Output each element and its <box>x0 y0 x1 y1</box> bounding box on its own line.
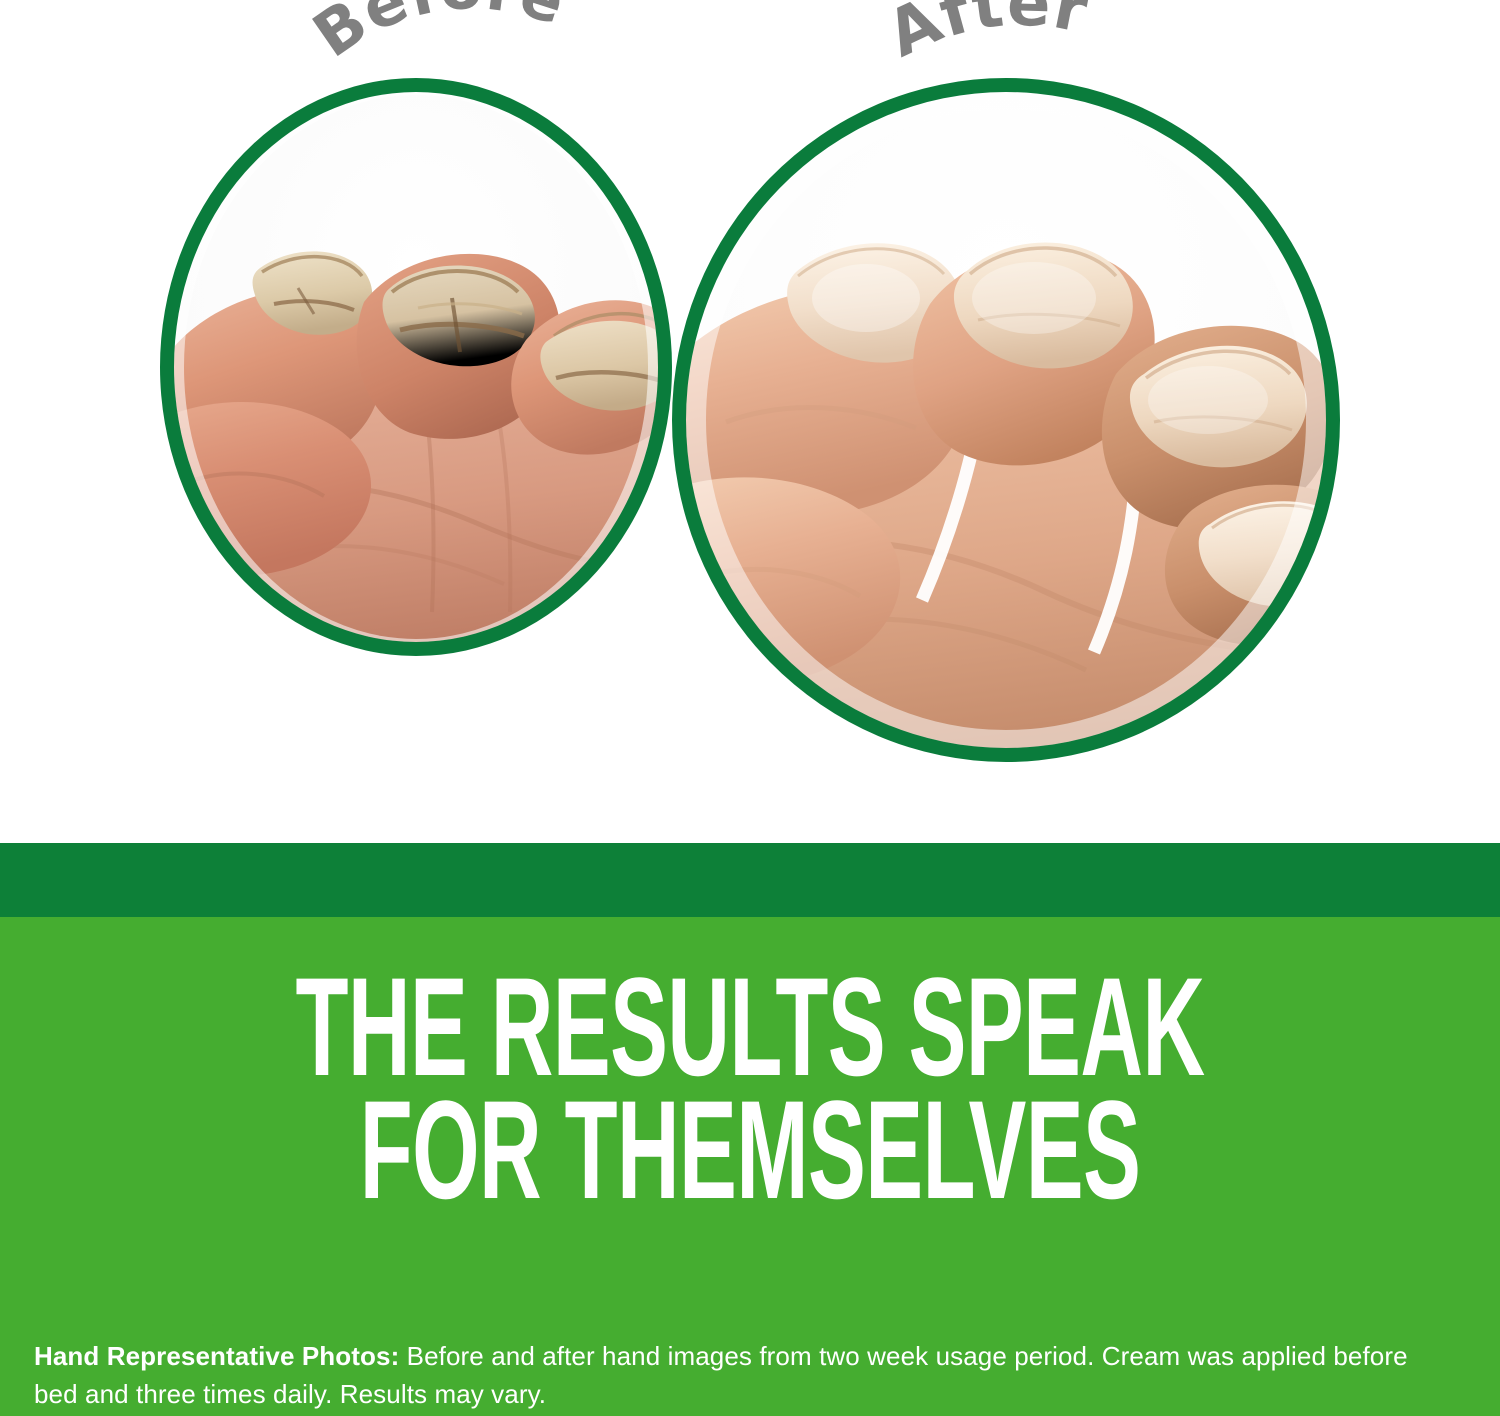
after-label-text: After <box>876 0 1094 72</box>
disclaimer: Hand Representative Photos: Before and a… <box>34 1338 1434 1413</box>
after-circle <box>672 78 1340 762</box>
headline-line-1: THE RESULTS SPEAK <box>285 965 1215 1088</box>
promo-graphic: Before After THE RESULTS SPEAK FOR THEMS… <box>0 0 1500 1416</box>
after-photo <box>686 92 1326 748</box>
headline-line-2: FOR THEMSELVES <box>285 1088 1215 1211</box>
headline: THE RESULTS SPEAK FOR THEMSELVES <box>0 965 1500 1211</box>
dark-green-band <box>0 843 1500 917</box>
before-after-comparison: Before After <box>0 0 1500 843</box>
svg-text:Before: Before <box>300 0 574 72</box>
svg-text:After: After <box>876 0 1094 72</box>
before-circle <box>160 78 672 656</box>
disclaimer-bold-prefix: Hand Representative Photos: <box>34 1341 399 1371</box>
before-label-text: Before <box>300 0 574 72</box>
before-photo <box>174 92 658 642</box>
